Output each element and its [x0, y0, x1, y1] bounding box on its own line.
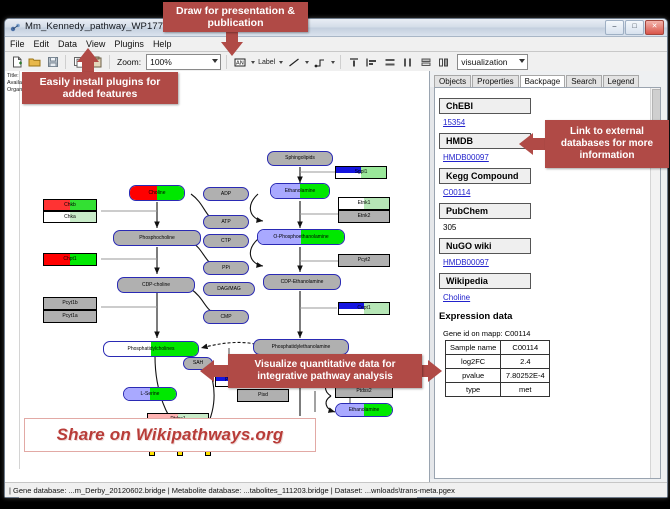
callout-share: Share on Wikipathways.org	[24, 418, 316, 452]
pubchem-header: PubChem	[439, 203, 531, 219]
node-label: Chka	[64, 215, 76, 220]
tab-search[interactable]: Search	[566, 75, 601, 87]
group-icon[interactable]	[436, 55, 451, 70]
callout-visualize: Visualize quantitative data for integrat…	[228, 354, 422, 388]
node-label: ADP	[221, 192, 231, 197]
share-text: Share on Wikipathways.org	[57, 425, 284, 445]
toolbar-separator	[109, 55, 110, 69]
distribute-horizontal-icon[interactable]	[400, 55, 415, 70]
node-pisd[interactable]: Pisd	[237, 389, 289, 402]
node-etnk2[interactable]: Etnk2	[338, 210, 390, 223]
expression-data-title: Expression data	[439, 311, 650, 322]
node-adp[interactable]: ADP	[203, 187, 249, 201]
distribute-vertical-icon[interactable]	[382, 55, 397, 70]
kegg-link[interactable]: C00114	[443, 188, 650, 197]
node-dag-mag[interactable]: DAG/MAG	[203, 282, 255, 296]
node-phosphocholine[interactable]: Phosphocholine	[113, 230, 201, 246]
node-label: L-Serine	[141, 392, 160, 397]
node-label: Etnk1	[358, 201, 371, 206]
node-label: Ptdss2	[356, 389, 371, 394]
pubchem-value: 305	[443, 223, 650, 232]
callout-draw-stem	[226, 32, 238, 42]
node-label: Cept1	[357, 306, 370, 311]
zoom-label: Zoom:	[117, 57, 141, 67]
table-row: type met	[446, 383, 550, 397]
node-pcyt2[interactable]: Pcyt2	[338, 254, 390, 267]
zoom-combobox[interactable]: 100%	[146, 54, 221, 70]
chevron-down-icon[interactable]	[279, 61, 283, 64]
node-phosphatidylcholines[interactable]: Phosphatidylcholines	[103, 341, 199, 357]
nugowiki-link[interactable]: HMDB00097	[443, 258, 650, 267]
node-label: Choline	[149, 191, 166, 196]
status-text: | Gene database: ...m_Derby_20120602.bri…	[9, 486, 455, 495]
node-label: DAG/MAG	[217, 287, 241, 292]
node-label: Phosphocholine	[139, 236, 175, 241]
expression-table: Sample name C00114 log2FC 2.4 pvalue 7.8…	[445, 340, 550, 397]
node-o-phosphoethanolamine[interactable]: O-Phosphoethanolamine	[257, 229, 345, 245]
node-label: Chkb	[64, 203, 76, 208]
node-label: ATP	[221, 220, 230, 225]
stack-icon[interactable]	[418, 55, 433, 70]
node-cept1[interactable]: Cept1	[338, 302, 390, 315]
node-label: Pcyt1a	[62, 314, 77, 319]
toolbar-separator	[65, 55, 66, 69]
callout-visualize-arrow-icon	[200, 360, 214, 382]
callout-plugins-stem	[82, 62, 94, 72]
node-ethanolamine[interactable]: Ethanolamine	[270, 183, 330, 199]
row-value: C00114	[501, 341, 550, 355]
save-icon[interactable]	[45, 55, 60, 70]
node-label: Phosphatidylcholines	[128, 347, 175, 352]
svg-text:AN: AN	[236, 60, 244, 66]
node-label: Pcyt1b	[62, 301, 77, 306]
datanode-icon[interactable]: AN	[232, 55, 247, 70]
align-left-icon[interactable]	[364, 55, 379, 70]
menu-data[interactable]: Data	[58, 39, 77, 49]
node-choline-top[interactable]: Choline	[129, 185, 185, 201]
menu-edit[interactable]: Edit	[34, 39, 50, 49]
tab-properties[interactable]: Properties	[472, 75, 518, 87]
node-sgpl1[interactable]: Sgpl1	[335, 166, 387, 179]
nugowiki-header: NuGO wiki	[439, 238, 531, 254]
node-pcyt1b[interactable]: Pcyt1b	[43, 297, 97, 310]
node-label: Ethanolamine	[349, 408, 380, 413]
menu-file[interactable]: File	[10, 39, 25, 49]
row-key: log2FC	[446, 355, 501, 369]
node-label: Pcyt2	[358, 258, 371, 263]
wikipedia-link[interactable]: Choline	[443, 293, 650, 302]
node-phosphatidylethanolamine[interactable]: Phosphatidylethanolamine	[253, 339, 349, 355]
node-cmp[interactable]: CMP	[203, 310, 249, 324]
row-key: Sample name	[446, 341, 501, 355]
row-key: type	[446, 383, 501, 397]
node-cdp-ethanolamine[interactable]: CDP-Ethanolamine	[263, 274, 341, 290]
align-top-icon[interactable]	[346, 55, 361, 70]
tab-backpage[interactable]: Backpage	[520, 75, 566, 87]
kegg-header: Kegg Compound	[439, 168, 531, 184]
callout-links-arrow-icon	[519, 133, 533, 155]
node-sphingolipids[interactable]: Sphingolipids	[267, 151, 333, 166]
maximize-button[interactable]: □	[625, 20, 644, 35]
window-titlebar: Mm_Kennedy_pathway_WP1771_45176.gpml – □…	[5, 19, 667, 37]
node-cdp-choline[interactable]: CDP-choline	[117, 277, 195, 293]
callout-draw: Draw for presentation & publication	[163, 2, 308, 32]
node-ctp[interactable]: CTP	[203, 234, 249, 248]
table-row: log2FC 2.4	[446, 355, 550, 369]
row-value: 7.80252E-4	[501, 369, 550, 383]
node-label: CDP-choline	[142, 283, 170, 288]
status-bar: | Gene database: ...m_Derby_20120602.bri…	[5, 482, 667, 497]
row-value: 2.4	[501, 355, 550, 369]
menubar: File Edit Data View Plugins Help	[5, 37, 667, 52]
node-l-serine-left[interactable]: L-Serine	[123, 387, 177, 401]
chevron-down-icon[interactable]	[212, 59, 218, 63]
callout-links: Link to external databases for more info…	[545, 120, 669, 168]
node-etnk1[interactable]: Etnk1	[338, 197, 390, 210]
callout-plugins-arrow-icon	[77, 48, 99, 62]
side-panel-tabs: Objects Properties Backpage Search Legen…	[434, 73, 665, 87]
table-row: pvalue 7.80252E-4	[446, 369, 550, 383]
node-label: PPi	[222, 266, 230, 271]
label-dropdown-label: Label	[258, 59, 275, 66]
toolbar-separator	[340, 55, 341, 69]
node-label: Sphingolipids	[285, 156, 315, 161]
gene-id-note: Gene id on mapp: C00114	[443, 329, 650, 338]
chevron-down-icon[interactable]	[519, 59, 525, 63]
window-controls: – □ ✕	[605, 20, 664, 35]
node-chka[interactable]: Chka	[43, 211, 97, 223]
node-ppi[interactable]: PPi	[203, 261, 249, 275]
callout-plugins: Easily install plugins for added feature…	[22, 72, 178, 104]
row-key: pvalue	[446, 369, 501, 383]
row-value: met	[501, 383, 550, 397]
node-label: CDP-Ethanolamine	[281, 280, 324, 285]
minimize-button[interactable]: –	[605, 20, 624, 35]
tab-legend[interactable]: Legend	[603, 75, 640, 87]
node-label: Ethanolamine	[285, 189, 316, 194]
node-label: CMP	[220, 315, 231, 320]
screenshot-root: Mm_Kennedy_pathway_WP1771_45176.gpml – □…	[0, 0, 670, 509]
toolbar-separator	[226, 55, 227, 69]
tab-objects[interactable]: Objects	[434, 75, 471, 87]
interaction-icon[interactable]	[312, 55, 327, 70]
chevron-down-icon[interactable]	[331, 61, 335, 64]
node-label: O-Phosphoethanolamine	[273, 235, 328, 240]
node-ethanolamine-bottom[interactable]: Ethanolamine	[335, 403, 393, 417]
table-row: Sample name C00114	[446, 341, 550, 355]
toolbar: Zoom: 100% AN Label	[5, 52, 667, 73]
open-folder-icon[interactable]	[27, 55, 42, 70]
node-pcyt1a[interactable]: Pcyt1a	[43, 310, 97, 323]
node-label: Chpt1	[63, 257, 76, 262]
node-label: Phosphatidylethanolamine	[272, 345, 331, 350]
line-icon[interactable]	[286, 55, 301, 70]
node-label: Etnk2	[358, 214, 371, 219]
pathvisio-app-icon	[10, 22, 21, 33]
node-chpt1[interactable]: Chpt1	[43, 253, 97, 266]
node-atp[interactable]: ATP	[203, 215, 249, 229]
callout-visualize-arrow-right-icon	[428, 360, 442, 382]
hmdb-header: HMDB	[439, 133, 531, 149]
menu-help[interactable]: Help	[153, 39, 172, 49]
node-label: Pisd	[258, 393, 268, 398]
chevron-down-icon[interactable]	[305, 61, 309, 64]
node-chkb[interactable]: Chkb	[43, 199, 97, 211]
visualization-value: visualization	[461, 57, 507, 67]
node-label: CTP	[221, 239, 231, 244]
menu-plugins[interactable]: Plugins	[114, 39, 144, 49]
zoom-value: 100%	[150, 57, 172, 67]
visualization-combobox[interactable]: visualization	[457, 54, 528, 70]
wikipedia-header: Wikipedia	[439, 273, 531, 289]
chebi-header: ChEBI	[439, 98, 531, 114]
new-file-icon[interactable]	[9, 55, 24, 70]
node-label: Sgpl1	[355, 170, 368, 175]
callout-draw-arrow-icon	[221, 42, 243, 56]
close-button[interactable]: ✕	[645, 20, 664, 35]
chevron-down-icon[interactable]	[251, 61, 255, 64]
